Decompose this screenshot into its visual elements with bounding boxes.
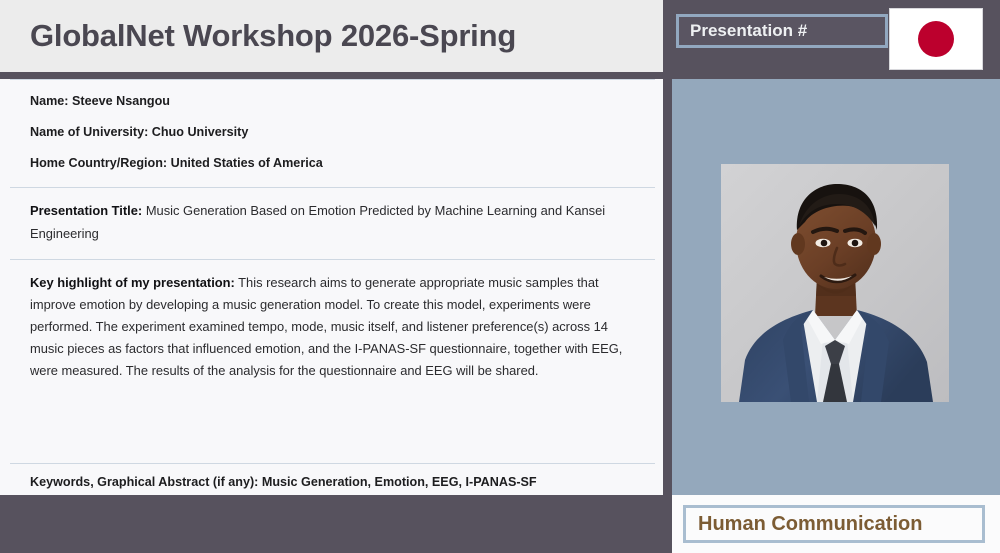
key-highlight-label: Key highlight of my presentation:: [30, 275, 235, 290]
key-highlight-paragraph: Key highlight of my presentation: This r…: [30, 272, 641, 383]
footer-bar-left: [0, 495, 663, 553]
flag-red-disc-icon: [918, 21, 954, 57]
presenter-name-field: Name: Steeve Nsangou: [30, 80, 641, 109]
presentation-title-line: Presentation Title: Music Generation Bas…: [30, 200, 641, 244]
title-underbar-divider: [0, 72, 663, 79]
abstract-content-panel: Name: Steeve Nsangou Name of University:…: [0, 79, 663, 495]
presentation-slide: GlobalNet Workshop 2026-Spring Name: Ste…: [0, 0, 1000, 553]
presentation-number-label: Presentation #: [690, 21, 807, 41]
presenter-home-country-field: Home Country/Region: United Staties of A…: [30, 140, 641, 187]
keywords-group: Keywords, Graphical Abstract (if any): M…: [0, 464, 663, 489]
presentation-number-box[interactable]: Presentation #: [676, 14, 888, 48]
presenter-photo-graphic: [721, 164, 949, 402]
key-highlight-body: This research aims to generate appropria…: [30, 275, 622, 379]
category-label: Human Communication: [698, 513, 922, 536]
presentation-title-label: Presentation Title:: [30, 203, 142, 218]
key-highlight-group: Key highlight of my presentation: This r…: [0, 260, 663, 397]
japan-flag-icon: [889, 8, 983, 70]
column-divider: [663, 0, 672, 553]
presentation-title-group: Presentation Title: Music Generation Bas…: [0, 188, 663, 258]
keywords-text: Keywords, Graphical Abstract (if any): M…: [30, 475, 641, 489]
category-box[interactable]: Human Communication: [683, 505, 985, 543]
presenter-photo: [721, 164, 949, 402]
page-title: GlobalNet Workshop 2026-Spring: [30, 18, 516, 54]
presenter-university-field: Name of University: Chuo University: [30, 109, 641, 140]
presenter-info-group: Name: Steeve Nsangou Name of University:…: [0, 80, 663, 187]
workshop-title-bar: GlobalNet Workshop 2026-Spring: [0, 0, 663, 72]
